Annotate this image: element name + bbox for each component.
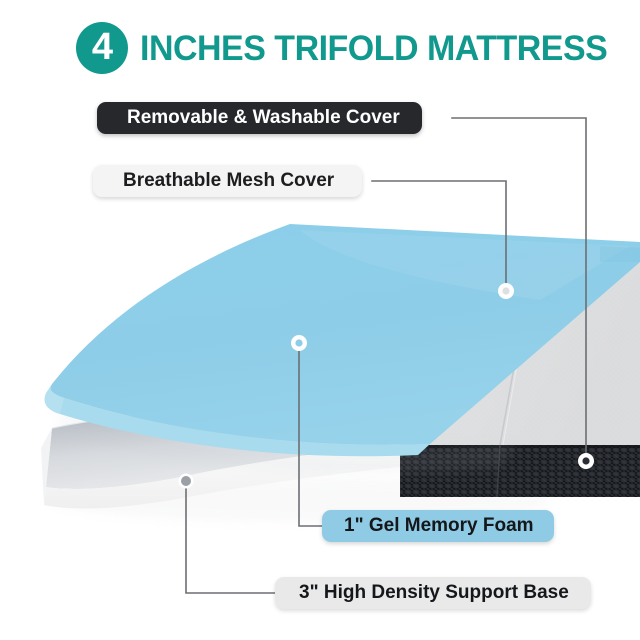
product-infographic: 4 INCHES TRIFOLD MATTRESS bbox=[0, 0, 640, 640]
callout-gel-memory-foam[interactable]: 1" Gel Memory Foam bbox=[322, 510, 554, 542]
callout-removable-washable-cover[interactable]: Removable & Washable Cover bbox=[97, 102, 422, 134]
mattress-illustration bbox=[0, 0, 640, 640]
callout-high-density-support-base[interactable]: 3" High Density Support Base bbox=[275, 577, 591, 609]
callout-breathable-mesh-cover[interactable]: Breathable Mesh Cover bbox=[93, 165, 362, 197]
